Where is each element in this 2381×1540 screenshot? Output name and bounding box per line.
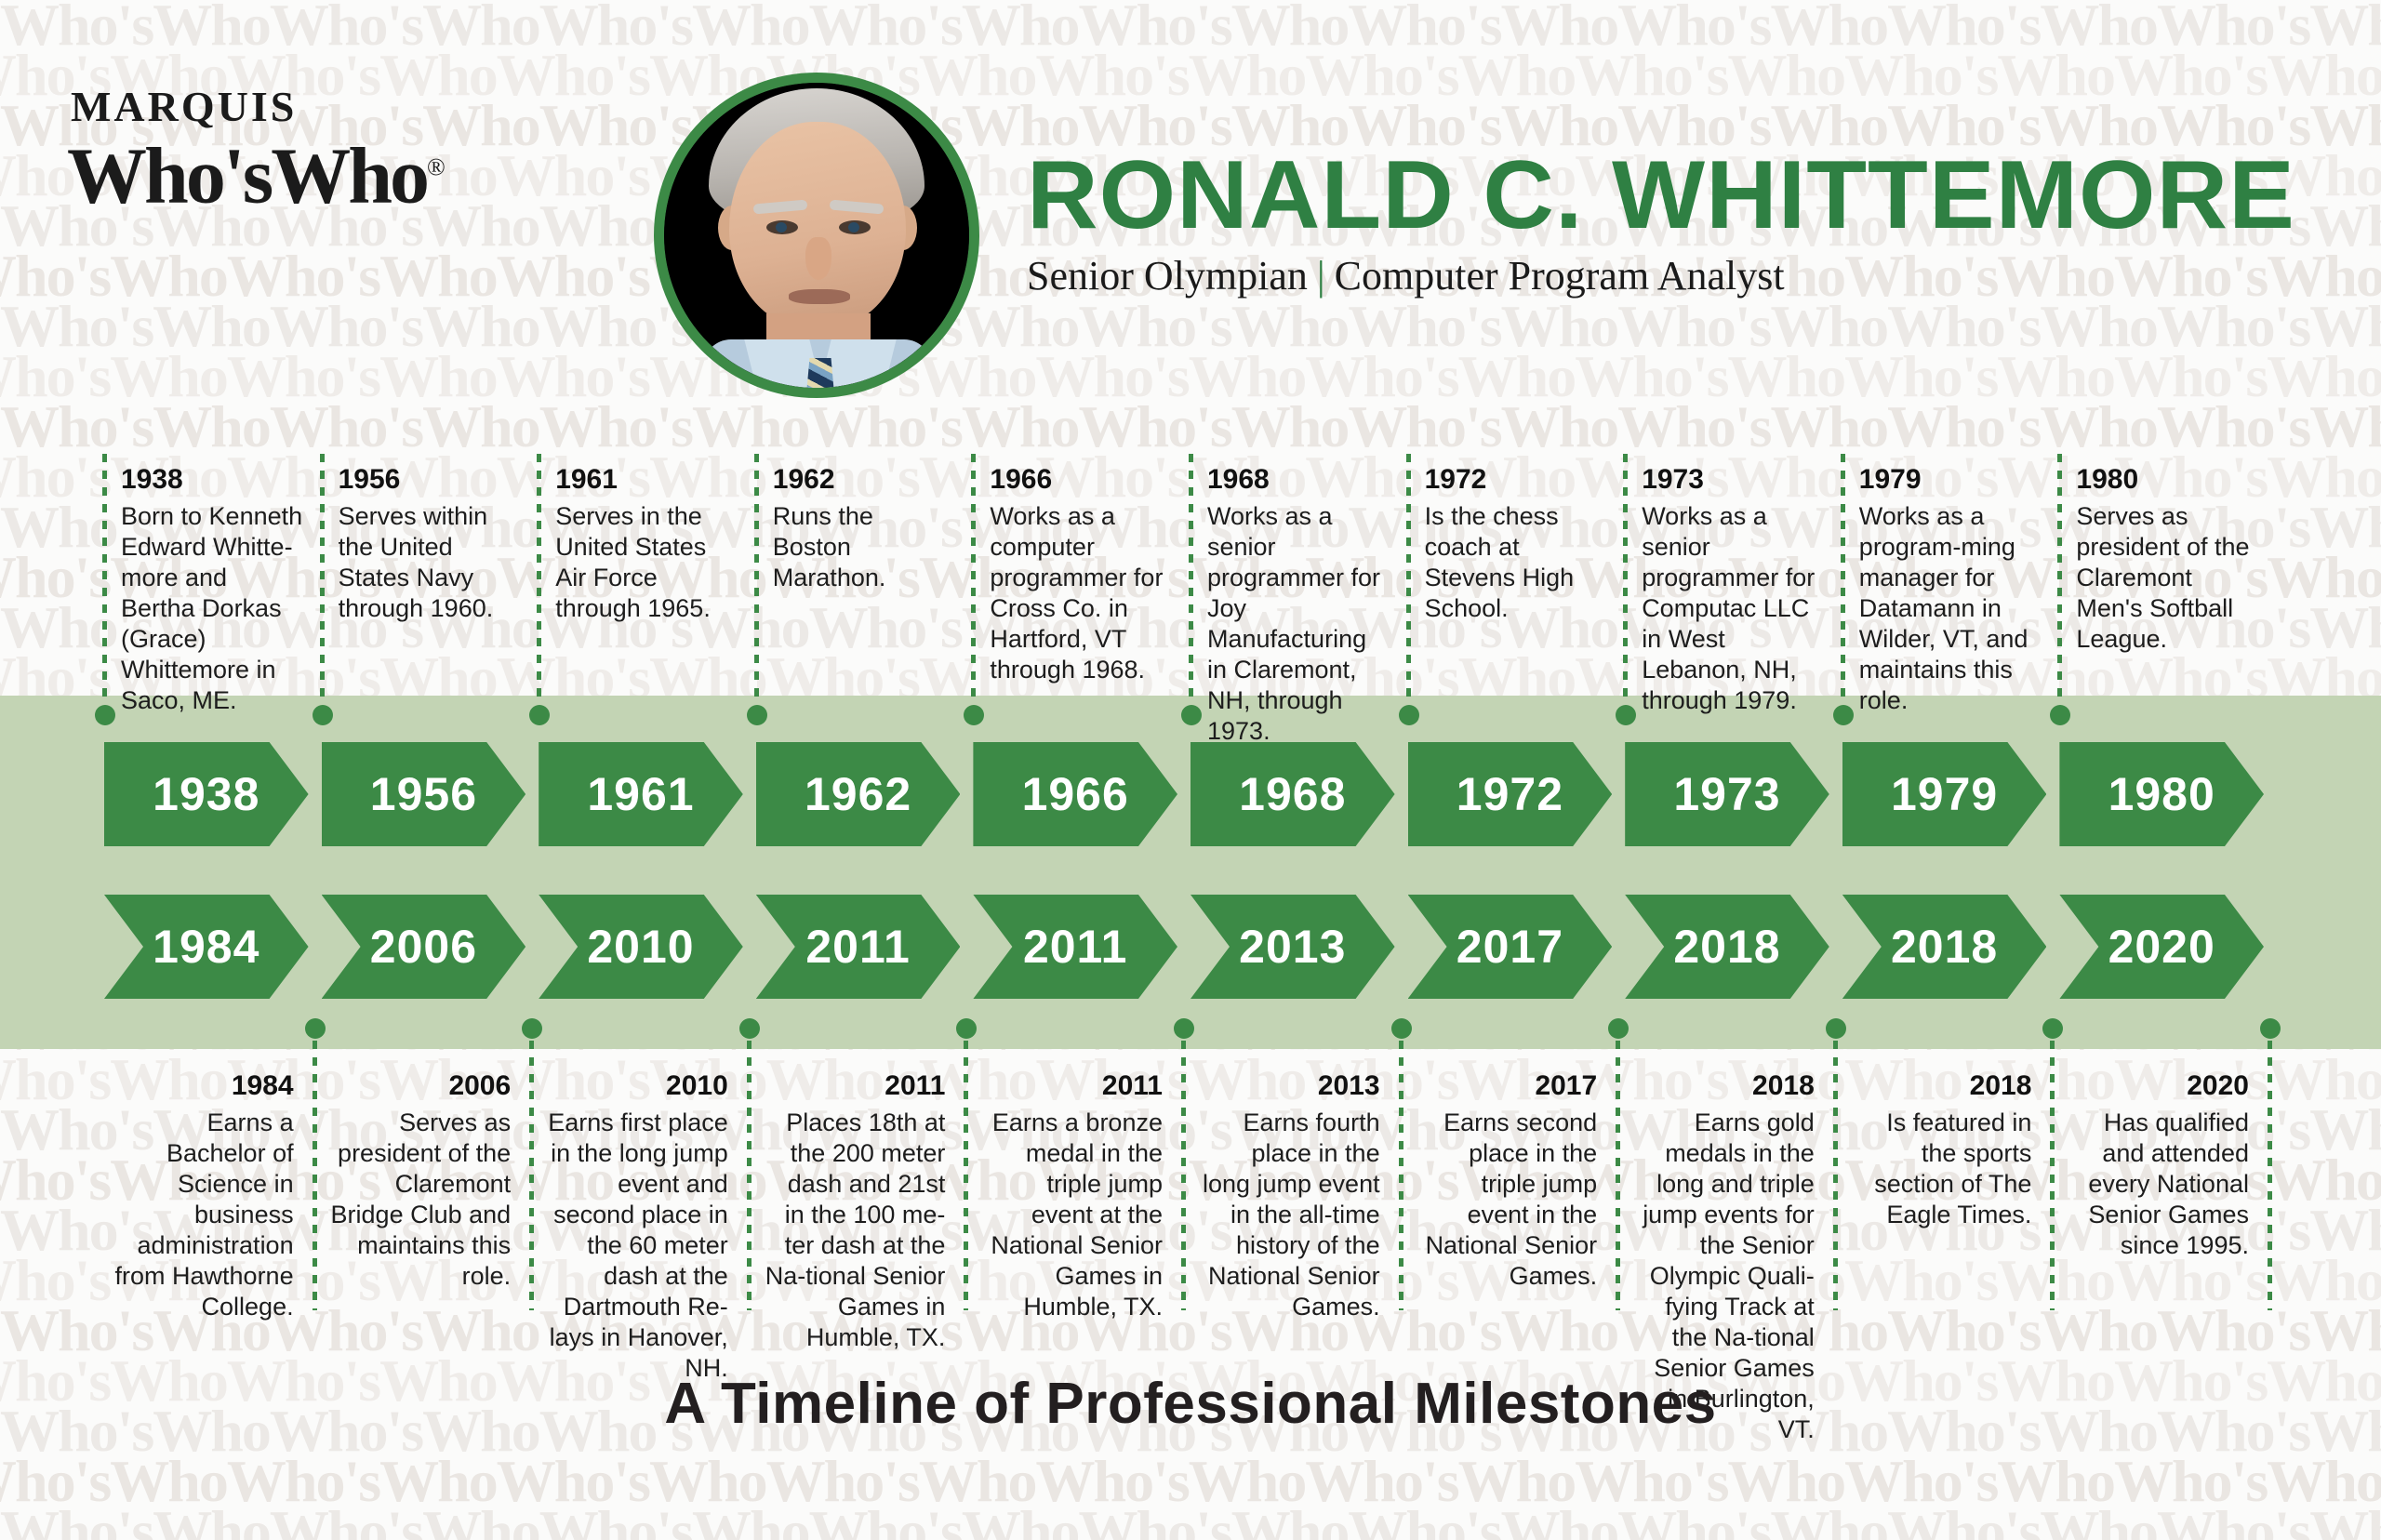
chevron-year-label: 2010 [587,920,694,974]
chevron-year-label: 2020 [2108,920,2215,974]
subtitle-role-secondary: Computer Program Analyst [1335,253,1785,299]
timeline-chevron[interactable]: 1966 [973,742,1177,846]
timeline-entry: 1968Works as a senior programmer for Joy… [1207,463,1391,747]
logo-whoswho-label: Who'sWho [67,131,427,220]
timeline-entry: 2006Serves as president of the Claremont… [329,1069,512,1292]
timeline-entry: 2020Has qualified and attended every Nat… [2067,1069,2249,1261]
timeline-entry: 1973Works as a senior programmer for Com… [1642,463,1826,716]
entry-description: Is the chess coach at Stevens High Schoo… [1425,501,1609,624]
entry-year: 1961 [555,463,739,497]
entry-description: Works as a computer programmer for Cross… [990,501,1174,685]
chevron-year-label: 1956 [370,767,477,821]
chevron-year-label: 2017 [1457,920,1563,974]
entry-year: 2011 [764,1069,946,1103]
timeline-chevron[interactable]: 2018 [1842,895,2047,999]
chevron-year-label: 1979 [1891,767,1998,821]
entry-description: Serves in the United States Air Force th… [555,501,739,624]
entry-description: Places 18th at the 200 meter dash and 21… [764,1108,946,1353]
timeline-entry: 2013Earns fourth place in the long jump … [1198,1069,1380,1322]
chevron-year-label: 2018 [1891,920,1998,974]
timeline-connector-dot [305,1018,326,1039]
portrait-eye-right [839,220,871,234]
subtitle-separator: | [1308,253,1335,299]
entry-year: 2018 [1850,1069,2032,1103]
timeline-connector-line [2268,1041,2272,1310]
entry-description: Has qualified and attended every Nationa… [2067,1108,2249,1261]
timeline-connector-dot [1181,705,1202,725]
entry-year: 1956 [339,463,523,497]
timeline-chevron-row-bottom: 1984200620102011201120132017201820182020 [0,895,2381,999]
entry-description: Earns a bronze medal in the triple jump … [980,1108,1163,1322]
timeline-connector-dot [313,705,333,725]
timeline-connector-line [1833,1041,1838,1310]
entry-description: Born to Kenneth Edward Whitte-more and B… [121,501,305,716]
timeline-entry: 1980Serves as president of the Claremont… [2076,463,2260,655]
timeline-chevron[interactable]: 1973 [1625,742,1829,846]
timeline-connector-line [1616,1041,1620,1310]
entry-year: 1968 [1207,463,1391,497]
chevron-year-label: 1938 [153,767,259,821]
entry-year: 2011 [980,1069,1163,1103]
portrait-nose [805,237,831,280]
timeline-chevron[interactable]: 1984 [104,895,309,999]
timeline-entry: 1961Serves in the United States Air Forc… [555,463,739,624]
logo-marquis-text: MARQUIS [71,86,476,128]
portrait-eye-left [766,220,798,234]
entry-description: Runs the Boston Marathon. [773,501,957,593]
chevron-year-label: 1973 [1673,767,1780,821]
entry-year: 1972 [1425,463,1609,497]
timeline-entry: 1966Works as a computer programmer for C… [990,463,1174,685]
entry-year: 1984 [112,1069,294,1103]
timeline-connector-line [320,454,325,699]
subtitle-role-primary: Senior Olympian [1027,253,1308,299]
timeline-connector-dot [1174,1018,1194,1039]
entry-description: Earns second place in the triple jump ev… [1416,1108,1598,1292]
marquis-whoswho-logo: MARQUIS Who'sWho® [67,86,476,215]
timeline-entry: 2017Earns second place in the triple jum… [1416,1069,1598,1292]
timeline-connector-line [754,454,759,699]
timeline-chevron[interactable]: 2006 [322,895,526,999]
timeline-entry: 1962Runs the Boston Marathon. [773,463,957,593]
timeline-chevron[interactable]: 1938 [104,742,309,846]
entry-year: 2010 [546,1069,728,1103]
timeline-chevron[interactable]: 2011 [973,895,1177,999]
chevron-year-label: 2013 [1239,920,1346,974]
timeline-chevron[interactable]: 2018 [1625,895,1829,999]
entry-description: Earns a Bachelor of Science in business … [112,1108,294,1322]
entry-year: 2013 [1198,1069,1380,1103]
timeline-connector-dot [1833,705,1854,725]
timeline-chevron[interactable]: 1979 [1842,742,2047,846]
timeline-connector-line [964,1041,968,1310]
timeline-chevron[interactable]: 2017 [1408,895,1613,999]
entry-year: 2020 [2067,1069,2249,1103]
timeline-entry: 1938Born to Kenneth Edward Whitte-more a… [121,463,305,716]
entry-year: 1966 [990,463,1174,497]
timeline-chevron[interactable]: 2020 [2059,895,2264,999]
chevron-year-label: 1980 [2108,767,2215,821]
entry-year: 1938 [121,463,305,497]
timeline-chevron[interactable]: 1980 [2059,742,2264,846]
timeline-connector-line [313,1041,317,1310]
timeline-connector-line [747,1041,752,1310]
timeline-entry: 1956Serves within the United States Navy… [339,463,523,624]
timeline-chevron[interactable]: 1968 [1190,742,1395,846]
timeline-connector-line [1841,454,1845,699]
timeline-connector-dot [739,1018,760,1039]
timeline-connector-line [1189,454,1193,699]
chevron-year-label: 2011 [805,920,910,974]
chevron-year-label: 1962 [805,767,911,821]
chevron-year-label: 1968 [1239,767,1346,821]
registered-trademark-icon: ® [427,153,446,180]
chevron-year-label: 1972 [1457,767,1563,821]
page-subtitle: Senior Olympian|Computer Program Analyst [1027,253,1785,299]
timeline-chevron[interactable]: 1961 [539,742,743,846]
timeline-connector-line [2057,454,2062,699]
entry-year: 1973 [1642,463,1826,497]
entry-description: Serves within the United States Navy thr… [339,501,523,624]
timeline-entry: 2010Earns first place in the long jump e… [546,1069,728,1384]
entry-year: 1962 [773,463,957,497]
timeline-entry: 2011Places 18th at the 200 meter dash an… [764,1069,946,1353]
chevron-year-label: 1961 [587,767,694,821]
timeline-entry: 1979Works as a program-ming manager for … [1859,463,2043,716]
portrait-photo [664,83,969,388]
entry-year: 1979 [1859,463,2043,497]
timeline-entry: 1972Is the chess coach at Stevens High S… [1425,463,1609,624]
timeline-connector-dot [1391,1018,1412,1039]
timeline-connector-line [1623,454,1628,699]
timeline-chevron-row-top: 1938195619611962196619681972197319791980 [0,742,2381,846]
entry-description: Earns first place in the long jump event… [546,1108,728,1384]
timeline-connector-line [2050,1041,2055,1310]
portrait-avatar [654,73,979,398]
timeline-connector-dot [1826,1018,1846,1039]
entry-year: 1980 [2076,463,2260,497]
timeline-connector-dot [2260,1018,2281,1039]
entry-description: Serves as president of the Claremont Bri… [329,1108,512,1292]
header: MARQUIS Who'sWho® RONALD C. WHITTEMORE S… [0,0,2381,437]
chevron-year-label: 2011 [1023,920,1127,974]
timeline-connector-dot [1399,705,1419,725]
timeline-connector-line [537,454,541,699]
entry-year: 2018 [1632,1069,1815,1103]
timeline-connector-line [102,454,107,699]
chevron-year-label: 1966 [1022,767,1129,821]
timeline-connector-dot [95,705,115,725]
timeline-entry: 2018Is featured in the sports section of… [1850,1069,2032,1230]
chevron-year-label: 2006 [370,920,477,974]
timeline-connector-line [1406,454,1411,699]
entry-description: Works as a program-ming manager for Data… [1859,501,2043,716]
timeline-connector-line [529,1041,534,1310]
chevron-year-label: 1984 [153,920,259,974]
entry-year: 2006 [329,1069,512,1103]
timeline-entry: 2011Earns a bronze medal in the triple j… [980,1069,1163,1322]
timeline-connector-line [1399,1041,1403,1310]
entry-description: Works as a senior programmer for Joy Man… [1207,501,1391,747]
entry-description: Earns fourth place in the long jump even… [1198,1108,1380,1322]
page-title: RONALD C. WHITTEMORE [1027,147,2295,244]
watermark-row: Who'sWhoWho'sWhoWho'sWhoWho'sWhoWho'sWho… [0,1507,2381,1540]
timeline-connector-line [971,454,976,699]
portrait-mouth [789,289,850,304]
timeline-chevron[interactable]: 2013 [1190,895,1395,999]
chevron-year-label: 2018 [1673,920,1780,974]
footer-title: A Timeline of Professional Milestones [0,1371,2381,1437]
entry-description: Works as a senior programmer for Computa… [1642,501,1826,716]
entry-description: Serves as president of the Claremont Men… [2076,501,2260,655]
entry-year: 2017 [1416,1069,1598,1103]
timeline-connector-dot [747,705,767,725]
timeline-chevron[interactable]: 1962 [756,742,961,846]
logo-whoswho-text: Who'sWho® [67,128,446,215]
timeline-chevron[interactable]: 1956 [322,742,526,846]
timeline-entry: 1984Earns a Bachelor of Science in busin… [112,1069,294,1322]
timeline-chevron[interactable]: 2011 [756,895,961,999]
timeline-chevron[interactable]: 2010 [539,895,743,999]
entry-description: Is featured in the sports section of The… [1850,1108,2032,1230]
timeline-chevron[interactable]: 1972 [1408,742,1613,846]
timeline-connector-line [1181,1041,1186,1310]
